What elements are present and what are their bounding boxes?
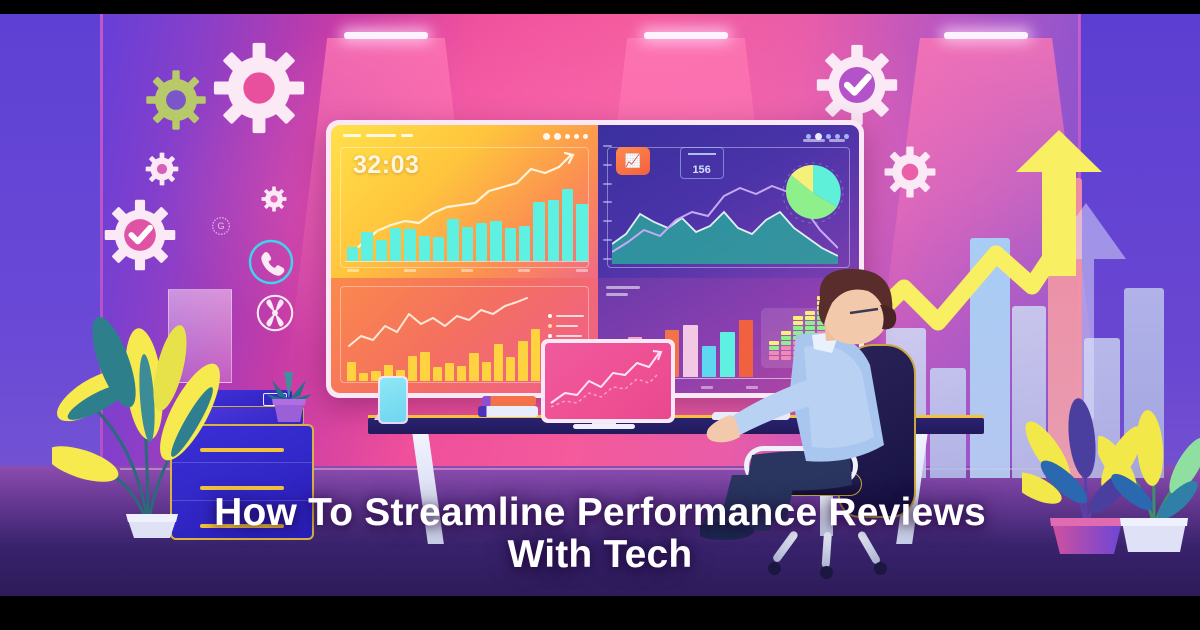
- succulent-plant: [262, 366, 316, 424]
- bar: [359, 373, 368, 381]
- bar: [531, 329, 540, 381]
- arrow-icon[interactable]: [574, 134, 579, 139]
- bar: [408, 356, 417, 381]
- poster-canvas: G: [0, 0, 1200, 630]
- propeller-x-icon: [254, 292, 296, 334]
- bar: [683, 325, 697, 377]
- check-gear-icon-right: [816, 44, 898, 126]
- bar: [476, 223, 487, 261]
- secondary-monitor-screen: [545, 343, 671, 419]
- analytics-header-ticks: [803, 139, 845, 142]
- panel-toolbar: [343, 134, 413, 137]
- letterbox-top: [0, 0, 1200, 14]
- gear-icon-olive: [145, 69, 207, 131]
- spotlight-fixture-1: [344, 32, 428, 39]
- bar: [505, 228, 516, 261]
- bar: [457, 366, 466, 381]
- bar: [519, 226, 530, 261]
- chart-x-axis: [345, 261, 588, 262]
- bar: [462, 227, 473, 261]
- main-bar-chart: [347, 183, 588, 261]
- analytics-y-axis: [603, 145, 612, 260]
- bar: [506, 357, 515, 381]
- chart-x-ticks: [347, 269, 588, 272]
- book-stack-bottom: [478, 406, 538, 417]
- bar: [562, 189, 573, 261]
- svg-text:G: G: [218, 221, 225, 231]
- bar: [390, 228, 401, 260]
- distribution-pie: [781, 161, 845, 225]
- check-gear-icon-left: [104, 199, 176, 271]
- poster-title: How To Streamline Performance Reviews Wi…: [0, 492, 1200, 576]
- bar: [433, 237, 444, 261]
- bar: [469, 353, 478, 381]
- smartphone[interactable]: [378, 376, 408, 424]
- settings-outline-icon: G: [208, 213, 234, 239]
- title-line-2: With Tech: [0, 534, 1200, 576]
- secondary-monitor-base: [573, 424, 635, 429]
- secondary-monitor-chart: [545, 343, 663, 411]
- title-line-1: How To Streamline Performance Reviews: [0, 492, 1200, 534]
- bar: [361, 232, 372, 261]
- phone-icon: [246, 237, 296, 287]
- bar: [419, 236, 430, 261]
- secondary-bar-chart: [347, 325, 540, 381]
- gear-icon-small-white: [145, 152, 179, 186]
- comparison-header-ticks: [606, 286, 640, 296]
- gear-icon-large-white: [213, 42, 305, 134]
- gear-icon-right-plain: [884, 146, 936, 198]
- bar: [482, 362, 491, 381]
- spotlight-fixture-2: [644, 32, 728, 39]
- secondary-monitor[interactable]: [541, 339, 675, 423]
- window-dot-2[interactable]: [554, 133, 561, 140]
- bar: [576, 204, 587, 261]
- bar: [518, 341, 527, 381]
- bar: [533, 202, 544, 261]
- bar: [420, 352, 429, 381]
- bar: [404, 229, 415, 260]
- bar: [347, 362, 356, 381]
- bar: [433, 367, 442, 381]
- book-stack-top: [482, 396, 536, 406]
- panel-performance-timer: 32:03: [331, 125, 598, 278]
- bar: [548, 200, 559, 261]
- bar: [376, 240, 387, 261]
- window-dot-1[interactable]: [543, 133, 550, 140]
- pencil-icon[interactable]: [565, 134, 570, 139]
- bar: [347, 247, 358, 260]
- spotlight-fixture-3: [944, 32, 1028, 39]
- bar: [490, 221, 501, 261]
- bar: [494, 344, 503, 381]
- letterbox-bottom: [0, 596, 1200, 630]
- square-icon[interactable]: [583, 134, 588, 139]
- gear-icon-tiny: [261, 186, 287, 212]
- bar: [447, 219, 458, 261]
- window-controls[interactable]: [543, 133, 588, 140]
- panel-analytics: 📈 156: [598, 125, 859, 278]
- bar: [445, 363, 454, 381]
